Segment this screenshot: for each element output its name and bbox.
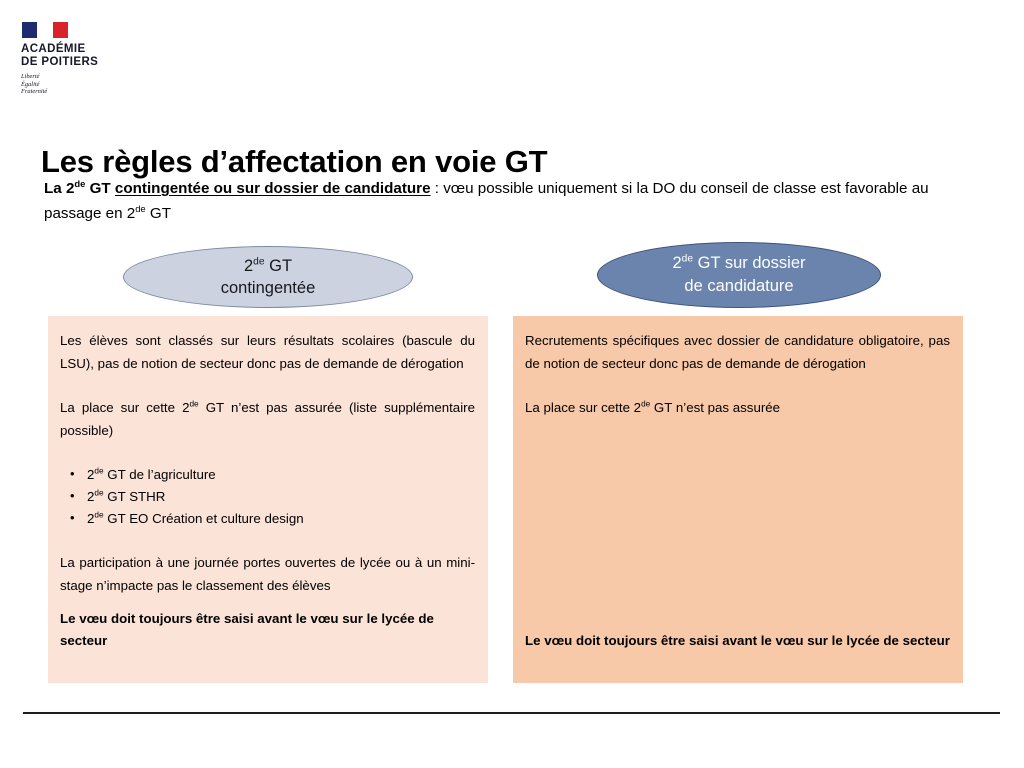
left-box-para-2-sup: de — [189, 400, 198, 409]
right-box-para-2-pre: La place sur cette 2 — [525, 400, 641, 415]
french-flag-icon — [22, 22, 68, 38]
logo-motto: Liberté Égalité Fraternité — [21, 73, 113, 96]
subtitle-lead2: GT — [85, 180, 115, 197]
right-box-footer: Le vœu doit toujours être saisi avant le… — [525, 630, 950, 652]
right-box-para-2: La place sur cette 2de GT n’est pas assu… — [525, 397, 950, 420]
subtitle-underlined: contingentée ou sur dossier de candidatu… — [115, 180, 431, 197]
ellipse-2de-gt-contingentee: 2de GT contingentée — [123, 246, 413, 308]
logo-line-poitiers: DE POITIERS — [21, 56, 113, 69]
list-item: 2de GT STHR — [60, 486, 475, 508]
right-box-para-2-post: GT n’est pas assurée — [650, 400, 780, 415]
ellipse-left-line2: contingentée — [221, 279, 316, 297]
bullet-0-post: GT de l’agriculture — [104, 467, 216, 482]
subtitle-lead: La 2 — [44, 180, 74, 197]
ellipse-right-line2: de candidature — [684, 277, 793, 295]
ellipse-2de-gt-sur-dossier: 2de GT sur dossier de candidature — [597, 242, 881, 308]
ellipse-left-line1-pre: 2 — [244, 257, 253, 275]
academie-de-poitiers-logo: ACADÉMIE DE POITIERS Liberté Égalité Fra… — [21, 22, 113, 96]
subtitle-rest-b: GT — [146, 205, 171, 222]
right-box-para-1: Recrutements spécifiques avec dossier de… — [525, 330, 950, 375]
content-box-contingentee: Les élèves sont classés sur leurs résult… — [48, 316, 488, 683]
motto-egalite: Égalité — [21, 81, 113, 89]
ellipse-left-line1-post: GT — [265, 257, 293, 275]
left-box-footer: Le vœu doit toujours être saisi avant le… — [60, 608, 475, 652]
bullet-0-sup: de — [94, 467, 103, 476]
ellipse-right-line1-sup: de — [682, 254, 693, 265]
subtitle-rest-sup: de — [135, 203, 145, 214]
subtitle-lead-sup: de — [74, 178, 85, 189]
motto-fraternite: Fraternité — [21, 88, 113, 96]
content-box-sur-dossier: Recrutements spécifiques avec dossier de… — [513, 316, 963, 683]
page-title: Les règles d’affectation en voie GT — [41, 144, 547, 180]
ellipse-left-line1-sup: de — [253, 257, 264, 268]
slide: ACADÉMIE DE POITIERS Liberté Égalité Fra… — [0, 0, 1024, 768]
bullet-1-post: GT STHR — [104, 489, 166, 504]
left-box-para-3: La participation à une journée portes ou… — [60, 552, 475, 597]
ellipse-right-line1-pre: 2 — [672, 254, 681, 272]
left-box-para-1: Les élèves sont classés sur leurs résult… — [60, 330, 475, 375]
ellipse-right-line1-post: GT sur dossier — [693, 254, 805, 272]
motto-liberte: Liberté — [21, 73, 113, 81]
footer-divider — [23, 712, 1000, 714]
list-item: 2de GT EO Création et culture design — [60, 508, 475, 530]
left-box-para-2: La place sur cette 2de GT n’est pas assu… — [60, 397, 475, 442]
bullet-2-post: GT EO Création et culture design — [104, 511, 304, 526]
bullet-1-sup: de — [94, 489, 103, 498]
list-item: 2de GT de l’agriculture — [60, 464, 475, 486]
subtitle-paragraph: La 2de GT contingentée ou sur dossier de… — [44, 176, 972, 226]
left-box-para-2-pre: La place sur cette 2 — [60, 400, 189, 415]
bullet-2-sup: de — [94, 511, 103, 520]
left-box-bullet-list: 2de GT de l’agriculture 2de GT STHR 2de … — [60, 464, 475, 530]
logo-line-academie: ACADÉMIE — [21, 43, 113, 56]
right-box-para-2-sup: de — [641, 400, 650, 409]
